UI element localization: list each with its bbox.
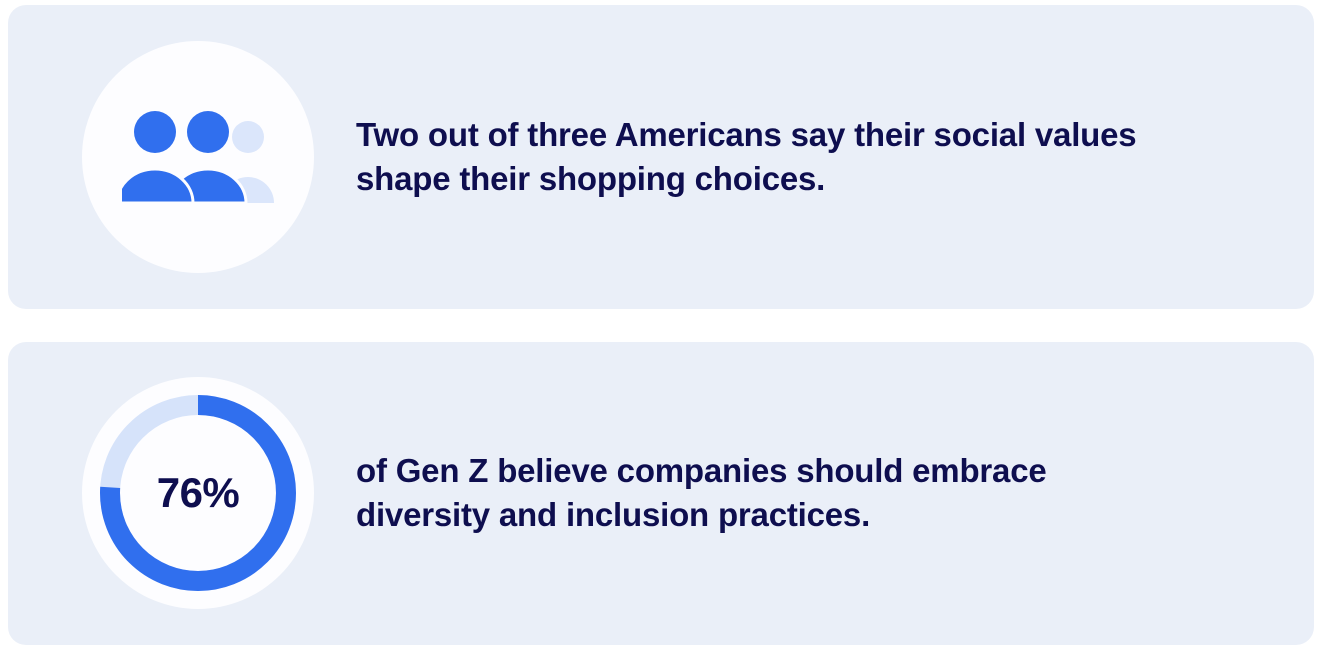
stat-card-social-values: Two out of three Americans say their soc… xyxy=(8,5,1314,309)
donut-chart-visual: 76% xyxy=(82,377,314,609)
stat-text-gen-z-diversity: of Gen Z believe companies should embrac… xyxy=(356,449,1186,537)
three-people-icon xyxy=(122,111,274,203)
donut-value-label: 76% xyxy=(157,472,240,514)
stat-card-gen-z-diversity: 76% of Gen Z believe companies should em… xyxy=(8,342,1314,646)
donut-progress-icon: 76% xyxy=(82,377,314,609)
stat-text-social-values: Two out of three Americans say their soc… xyxy=(356,113,1186,201)
people-icon-visual xyxy=(82,41,314,273)
stat-board: Two out of three Americans say their soc… xyxy=(0,0,1322,650)
